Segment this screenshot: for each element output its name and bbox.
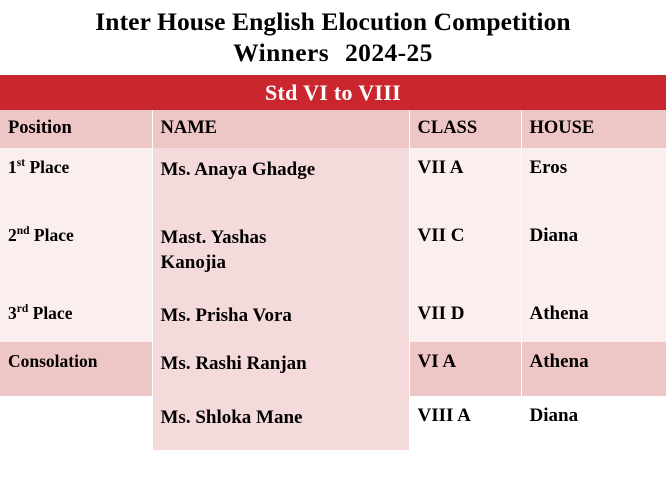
winner-house: Athena	[522, 294, 666, 325]
winner-name-line-1: Mast. Yashas	[161, 225, 409, 250]
cell-name: Mast. Yashas Kanojia	[152, 216, 409, 294]
position-word: Place	[33, 303, 73, 323]
cell-name: Ms. Prisha Vora	[152, 294, 409, 342]
winner-name-line-2: Kanojia	[161, 250, 409, 275]
winner-name: Ms. Shloka Mane	[153, 396, 409, 430]
column-header-position: Position	[0, 110, 152, 148]
table-row: 3rd Place Ms. Prisha Vora VII D Athena	[0, 294, 666, 342]
position-suffix: nd	[17, 225, 30, 237]
title-winners-word: Winners	[233, 38, 329, 67]
winner-class: VII C	[410, 216, 521, 247]
standard-band-row: Std VI to VIII	[0, 75, 666, 110]
cell-house: Diana	[521, 216, 666, 294]
cell-position: Consolation	[0, 342, 152, 396]
table-row: 2nd Place Mast. Yashas Kanojia VII C Dia…	[0, 216, 666, 294]
cell-name: Ms. Shloka Mane	[152, 396, 409, 450]
cell-name: Ms. Rashi Ranjan	[152, 342, 409, 396]
winner-house: Diana	[522, 396, 666, 427]
winner-class: VI A	[410, 342, 521, 373]
title-line-1: Inter House English Elocution Competitio…	[0, 6, 666, 37]
cell-house: Eros	[521, 148, 666, 216]
position-number: 2	[8, 225, 17, 245]
position-word	[0, 396, 152, 405]
position-word: Place	[34, 225, 74, 245]
column-header-class: CLASS	[409, 110, 521, 148]
winner-house: Diana	[522, 216, 666, 247]
cell-name: Ms. Anaya Ghadge	[152, 148, 409, 216]
winner-name: Ms. Prisha Vora	[153, 294, 409, 328]
cell-class: VI A	[409, 342, 521, 396]
winner-house: Athena	[522, 342, 666, 373]
position-number: 1	[8, 157, 17, 177]
position-word: Consolation	[0, 342, 152, 372]
winner-class: VII A	[410, 148, 521, 179]
title-academic-year: 2024-25	[345, 38, 433, 67]
cell-class: VII A	[409, 148, 521, 216]
cell-position: 3rd Place	[0, 294, 152, 342]
position-suffix: rd	[17, 303, 29, 315]
winner-house: Eros	[522, 148, 666, 179]
standard-band-label: Std VI to VIII	[0, 75, 666, 110]
cell-position	[0, 396, 152, 450]
cell-position: 2nd Place	[0, 216, 152, 294]
table-row: Ms. Shloka Mane VIII A Diana	[0, 396, 666, 450]
winner-name: Ms. Rashi Ranjan	[153, 342, 409, 376]
cell-house: Athena	[521, 294, 666, 342]
cell-class: VII C	[409, 216, 521, 294]
table-header-row: Position NAME CLASS HOUSE	[0, 110, 666, 148]
table-row: 1st Place Ms. Anaya Ghadge VII A Eros	[0, 148, 666, 216]
poster-title-block: Inter House English Elocution Competitio…	[0, 0, 666, 68]
column-header-house: HOUSE	[521, 110, 666, 148]
cell-position: 1st Place	[0, 148, 152, 216]
cell-house: Diana	[521, 396, 666, 450]
title-line-2: Winners2024-25	[0, 37, 666, 68]
winners-poster: Inter House English Elocution Competitio…	[0, 0, 666, 500]
cell-class: VIII A	[409, 396, 521, 450]
winners-table: Std VI to VIII Position NAME CLASS HOUSE	[0, 75, 666, 450]
cell-house: Athena	[521, 342, 666, 396]
winner-class: VII D	[410, 294, 521, 325]
winner-class: VIII A	[410, 396, 521, 427]
position-number: 3	[8, 303, 17, 323]
position-suffix: st	[17, 157, 25, 169]
cell-class: VII D	[409, 294, 521, 342]
table-row: Consolation Ms. Rashi Ranjan VI A Athena	[0, 342, 666, 396]
column-header-name: NAME	[152, 110, 409, 148]
position-word: Place	[29, 157, 69, 177]
winner-name: Ms. Anaya Ghadge	[153, 148, 409, 182]
